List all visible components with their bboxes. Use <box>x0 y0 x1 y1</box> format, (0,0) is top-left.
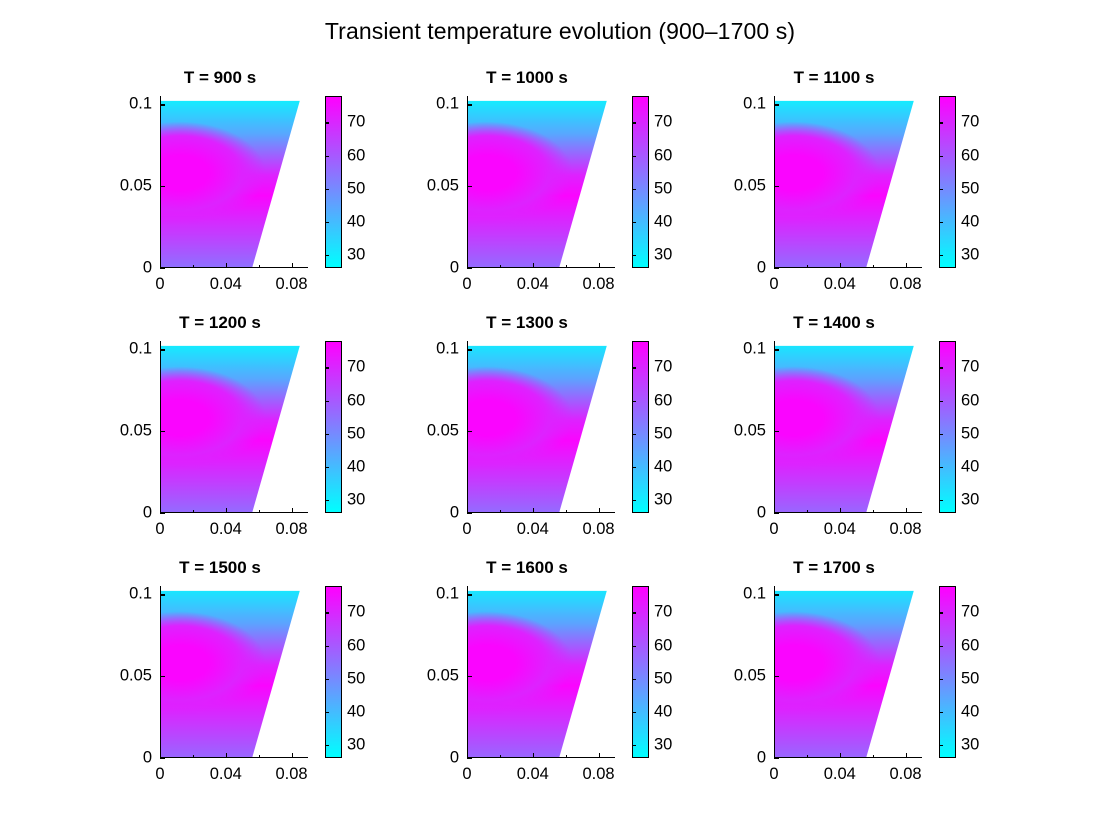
x-tick <box>840 753 841 758</box>
subplot-panel: T = 1600 s00.040.080.10.0507060504030 <box>412 558 722 808</box>
y-tick-label: 0 <box>450 259 459 278</box>
colorbar-tick <box>632 222 636 223</box>
y-tick <box>467 431 472 432</box>
colorbar-tick <box>632 500 636 501</box>
axes-frame <box>774 586 922 758</box>
y-tick-label: 0 <box>450 504 459 523</box>
colorbar-tick-label: 50 <box>347 424 365 443</box>
x-tick-label: 0.04 <box>517 765 549 784</box>
colorbar-tick <box>632 156 636 157</box>
x-minor-tick <box>566 510 567 513</box>
colorbar-tick <box>325 679 329 680</box>
colorbar-tick <box>632 367 636 368</box>
colorbar-tick <box>325 222 329 223</box>
colorbar-tick <box>632 255 636 256</box>
colorbar-tick-label: 30 <box>654 490 672 509</box>
colorbar-tick <box>939 255 943 256</box>
colorbar-tick-label: 50 <box>654 179 672 198</box>
colorbar-tick-label: 70 <box>654 113 672 132</box>
colorbar-tick-label: 30 <box>961 245 979 264</box>
colorbar-tick <box>939 434 943 435</box>
y-tick-label: 0 <box>450 749 459 768</box>
colorbar-tick-label: 70 <box>347 113 365 132</box>
x-tick-label: 0 <box>462 765 471 784</box>
colorbar-tick-label: 40 <box>961 212 979 231</box>
plot-axes: 00.040.080.10.050 <box>160 341 308 513</box>
x-tick <box>533 753 534 758</box>
colorbar-tick <box>632 712 636 713</box>
x-minor-tick <box>193 755 194 758</box>
x-tick-label: 0 <box>769 275 778 294</box>
colorbar-tick <box>632 434 636 435</box>
x-minor-tick <box>873 510 874 513</box>
colorbar-tick-label: 30 <box>961 490 979 509</box>
colorbar-tick <box>939 189 943 190</box>
x-tick-label: 0.04 <box>824 520 856 539</box>
axes-frame <box>160 96 308 268</box>
x-tick-label: 0.04 <box>517 275 549 294</box>
axes-frame <box>160 586 308 758</box>
colorbar-tick-label: 70 <box>654 358 672 377</box>
y-tick-label: 0 <box>757 504 766 523</box>
colorbar-tick <box>325 401 329 402</box>
axes-frame <box>160 341 308 513</box>
y-tick-label: 0.05 <box>734 422 766 441</box>
y-tick <box>774 186 779 187</box>
x-tick <box>292 753 293 758</box>
y-tick <box>160 268 165 269</box>
x-tick-label: 0.08 <box>582 275 614 294</box>
x-tick-label: 0.08 <box>582 765 614 784</box>
y-tick-label: 0.05 <box>427 422 459 441</box>
colorbar-tick-label: 30 <box>961 735 979 754</box>
colorbar-tick-label: 70 <box>961 358 979 377</box>
colorbar-tick-label: 60 <box>961 146 979 165</box>
y-tick <box>467 676 472 677</box>
y-tick <box>774 104 779 105</box>
x-tick <box>533 508 534 513</box>
x-tick <box>226 508 227 513</box>
x-tick-label: 0.04 <box>210 275 242 294</box>
x-tick-label: 0.08 <box>275 765 307 784</box>
x-tick <box>906 508 907 513</box>
colorbar-tick-label: 60 <box>347 391 365 410</box>
colorbar-tick <box>939 367 943 368</box>
y-tick <box>467 104 472 105</box>
y-tick <box>160 431 165 432</box>
x-minor-tick <box>500 510 501 513</box>
x-minor-tick <box>566 265 567 268</box>
y-tick-label: 0 <box>143 504 152 523</box>
subplot-panel: T = 1200 s00.040.080.10.0507060504030 <box>105 313 415 563</box>
y-tick-label: 0.05 <box>427 667 459 686</box>
y-tick-label: 0.05 <box>734 667 766 686</box>
x-tick <box>226 753 227 758</box>
y-tick <box>160 676 165 677</box>
y-tick-label: 0.1 <box>743 585 766 604</box>
colorbar-tick <box>325 500 329 501</box>
colorbar-tick <box>939 222 943 223</box>
plot-axes: 00.040.080.10.050 <box>774 586 922 758</box>
y-tick-label: 0.1 <box>129 340 152 359</box>
x-tick <box>599 753 600 758</box>
figure-canvas: Transient temperature evolution (900–170… <box>0 0 1120 840</box>
colorbar-tick-label: 40 <box>961 702 979 721</box>
y-tick-label: 0.1 <box>436 95 459 114</box>
x-tick <box>840 263 841 268</box>
subplot-panel: T = 1700 s00.040.080.10.0507060504030 <box>719 558 1029 808</box>
y-tick <box>467 268 472 269</box>
subplot-title: T = 1100 s <box>719 68 949 88</box>
subplot-title: T = 1700 s <box>719 558 949 578</box>
y-tick-label: 0.05 <box>734 177 766 196</box>
y-tick-label: 0.05 <box>120 422 152 441</box>
colorbar-tick-label: 70 <box>961 113 979 132</box>
x-tick-label: 0 <box>769 520 778 539</box>
colorbar-tick <box>632 612 636 613</box>
y-tick <box>467 186 472 187</box>
colorbar-tick-label: 30 <box>654 245 672 264</box>
colorbar-tick-label: 70 <box>347 603 365 622</box>
colorbar-tick-label: 40 <box>654 212 672 231</box>
colorbar-tick <box>325 255 329 256</box>
y-tick-label: 0.1 <box>129 95 152 114</box>
x-tick-label: 0 <box>155 520 164 539</box>
colorbar-tick-label: 40 <box>347 702 365 721</box>
y-tick <box>160 758 165 759</box>
y-tick-label: 0.1 <box>436 585 459 604</box>
y-tick <box>467 349 472 350</box>
y-tick <box>774 758 779 759</box>
y-tick <box>774 676 779 677</box>
colorbar-tick-label: 60 <box>654 146 672 165</box>
colorbar-tick-label: 50 <box>347 669 365 688</box>
colorbar-tick-label: 40 <box>347 457 365 476</box>
colorbar-tick <box>632 646 636 647</box>
x-tick <box>533 263 534 268</box>
y-tick-label: 0.05 <box>120 177 152 196</box>
x-tick-label: 0 <box>769 765 778 784</box>
subplot-title: T = 1400 s <box>719 313 949 333</box>
colorbar-tick-label: 60 <box>961 391 979 410</box>
y-tick <box>467 758 472 759</box>
colorbar-tick <box>325 434 329 435</box>
colorbar-tick <box>325 367 329 368</box>
colorbar-tick-label: 50 <box>961 669 979 688</box>
subplot-title: T = 1200 s <box>105 313 335 333</box>
colorbar-tick <box>325 612 329 613</box>
colorbar-tick-label: 50 <box>961 179 979 198</box>
y-tick <box>467 594 472 595</box>
x-tick <box>840 508 841 513</box>
x-tick-label: 0.08 <box>275 275 307 294</box>
y-tick-label: 0.1 <box>129 585 152 604</box>
x-tick-label: 0.04 <box>824 765 856 784</box>
colorbar-tick-label: 70 <box>347 358 365 377</box>
subplot-panel: T = 1100 s00.040.080.10.0507060504030 <box>719 68 1029 318</box>
figure-title: Transient temperature evolution (900–170… <box>0 18 1120 45</box>
colorbar-tick-label: 40 <box>961 457 979 476</box>
x-minor-tick <box>873 755 874 758</box>
subplot-title: T = 1500 s <box>105 558 335 578</box>
colorbar-tick <box>325 646 329 647</box>
x-minor-tick <box>500 265 501 268</box>
x-tick-label: 0 <box>155 765 164 784</box>
colorbar-tick-label: 50 <box>654 669 672 688</box>
plot-axes: 00.040.080.10.050 <box>467 96 615 268</box>
colorbar-tick-label: 50 <box>654 424 672 443</box>
x-tick <box>226 263 227 268</box>
colorbar-tick-label: 50 <box>961 424 979 443</box>
colorbar-tick <box>632 679 636 680</box>
x-tick-label: 0.04 <box>210 765 242 784</box>
colorbar-tick <box>939 679 943 680</box>
colorbar-tick-label: 30 <box>654 735 672 754</box>
subplot-panel: T = 1500 s00.040.080.10.0507060504030 <box>105 558 415 808</box>
colorbar-tick-label: 60 <box>654 636 672 655</box>
subplot-panel: T = 1000 s00.040.080.10.0507060504030 <box>412 68 722 318</box>
x-tick-label: 0.04 <box>824 275 856 294</box>
y-tick <box>774 349 779 350</box>
colorbar-tick-label: 70 <box>654 603 672 622</box>
x-tick-label: 0.04 <box>210 520 242 539</box>
x-tick-label: 0.08 <box>889 275 921 294</box>
x-tick-label: 0.08 <box>582 520 614 539</box>
x-tick-label: 0.08 <box>889 520 921 539</box>
colorbar-tick <box>632 401 636 402</box>
x-tick <box>599 508 600 513</box>
colorbar-tick <box>939 122 943 123</box>
colorbar-tick <box>632 467 636 468</box>
y-tick-label: 0.1 <box>436 340 459 359</box>
colorbar-tick-label: 40 <box>347 212 365 231</box>
x-minor-tick <box>259 510 260 513</box>
x-tick-label: 0.04 <box>517 520 549 539</box>
y-tick-label: 0 <box>757 259 766 278</box>
colorbar-tick-label: 30 <box>347 490 365 509</box>
colorbar-tick-label: 60 <box>961 636 979 655</box>
colorbar-tick <box>939 646 943 647</box>
axes-frame <box>467 586 615 758</box>
x-tick-label: 0 <box>462 275 471 294</box>
y-tick <box>467 513 472 514</box>
plot-axes: 00.040.080.10.050 <box>160 96 308 268</box>
colorbar-tick-label: 30 <box>347 735 365 754</box>
colorbar-tick-label: 70 <box>961 603 979 622</box>
y-tick-label: 0.1 <box>743 95 766 114</box>
x-minor-tick <box>193 265 194 268</box>
y-tick-label: 0.1 <box>743 340 766 359</box>
subplot-panel: T = 1300 s00.040.080.10.0507060504030 <box>412 313 722 563</box>
colorbar-tick <box>632 189 636 190</box>
y-tick <box>774 594 779 595</box>
x-minor-tick <box>259 265 260 268</box>
y-tick <box>160 513 165 514</box>
y-tick <box>774 268 779 269</box>
colorbar-tick-label: 60 <box>347 636 365 655</box>
colorbar-tick <box>939 401 943 402</box>
y-tick-label: 0.05 <box>427 177 459 196</box>
colorbar-tick-label: 60 <box>347 146 365 165</box>
axes-frame <box>774 341 922 513</box>
colorbar-tick-label: 40 <box>654 702 672 721</box>
y-tick <box>774 513 779 514</box>
y-tick-label: 0 <box>757 749 766 768</box>
subplot-panel: T = 1400 s00.040.080.10.0507060504030 <box>719 313 1029 563</box>
x-minor-tick <box>500 755 501 758</box>
y-tick <box>160 349 165 350</box>
x-minor-tick <box>193 510 194 513</box>
colorbar-tick <box>939 467 943 468</box>
colorbar-tick <box>632 122 636 123</box>
subplot-title: T = 1300 s <box>412 313 642 333</box>
x-minor-tick <box>566 755 567 758</box>
y-tick <box>774 431 779 432</box>
colorbar-tick <box>939 745 943 746</box>
plot-axes: 00.040.080.10.050 <box>467 586 615 758</box>
y-tick-label: 0 <box>143 259 152 278</box>
x-tick-label: 0.08 <box>275 520 307 539</box>
subplot-title: T = 1000 s <box>412 68 642 88</box>
colorbar-tick-label: 30 <box>347 245 365 264</box>
colorbar-tick <box>939 156 943 157</box>
colorbar-tick <box>939 712 943 713</box>
x-minor-tick <box>807 510 808 513</box>
plot-axes: 00.040.080.10.050 <box>774 96 922 268</box>
plot-axes: 00.040.080.10.050 <box>774 341 922 513</box>
colorbar-tick <box>325 189 329 190</box>
y-tick <box>160 186 165 187</box>
x-tick <box>906 753 907 758</box>
subplot-title: T = 1600 s <box>412 558 642 578</box>
colorbar-tick-label: 60 <box>654 391 672 410</box>
axes-frame <box>467 96 615 268</box>
x-tick-label: 0.08 <box>889 765 921 784</box>
x-minor-tick <box>873 265 874 268</box>
subplot-panel: T = 900 s00.040.080.10.0507060504030 <box>105 68 415 318</box>
colorbar-tick <box>325 156 329 157</box>
colorbar-tick <box>325 122 329 123</box>
axes-frame <box>467 341 615 513</box>
colorbar-tick <box>325 467 329 468</box>
colorbar-tick <box>325 745 329 746</box>
x-tick-label: 0 <box>462 520 471 539</box>
x-tick <box>292 263 293 268</box>
x-minor-tick <box>259 755 260 758</box>
subplot-title: T = 900 s <box>105 68 335 88</box>
x-minor-tick <box>807 755 808 758</box>
y-tick <box>160 104 165 105</box>
y-tick-label: 0 <box>143 749 152 768</box>
x-tick <box>599 263 600 268</box>
plot-axes: 00.040.080.10.050 <box>160 586 308 758</box>
plot-axes: 00.040.080.10.050 <box>467 341 615 513</box>
colorbar-tick <box>939 612 943 613</box>
x-tick <box>292 508 293 513</box>
colorbar-tick <box>632 745 636 746</box>
colorbar-tick <box>939 500 943 501</box>
colorbar-tick <box>325 712 329 713</box>
axes-frame <box>774 96 922 268</box>
colorbar-tick-label: 50 <box>347 179 365 198</box>
y-tick-label: 0.05 <box>120 667 152 686</box>
x-tick-label: 0 <box>155 275 164 294</box>
y-tick <box>160 594 165 595</box>
x-minor-tick <box>807 265 808 268</box>
colorbar-tick-label: 40 <box>654 457 672 476</box>
x-tick <box>906 263 907 268</box>
